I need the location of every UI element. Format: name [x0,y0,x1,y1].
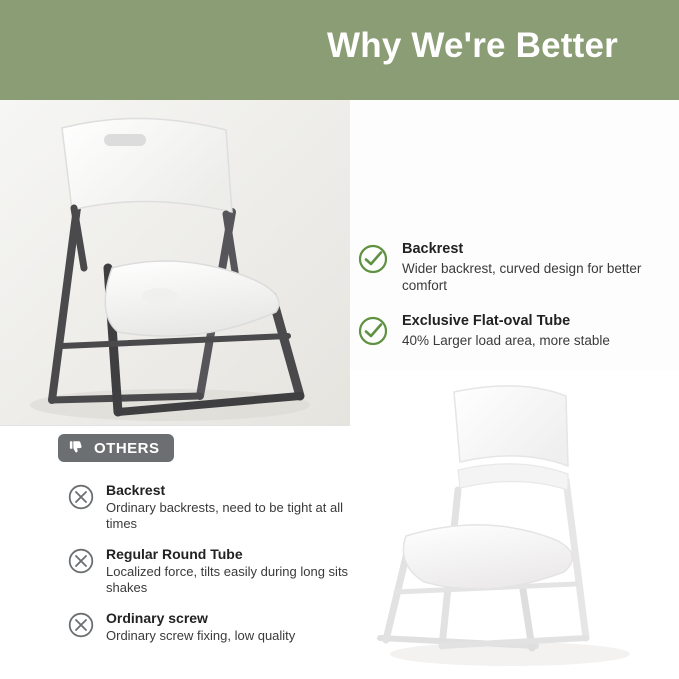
thumbs-down-icon [68,439,86,457]
cons-list: Backrest Ordinary backrests, need to be … [68,482,368,670]
con-title: Ordinary screw [106,610,368,627]
others-badge-label: OTHERS [94,440,160,457]
con-description: Ordinary backrests, need to be tight at … [106,500,368,532]
other-chair-illustration [350,370,679,679]
x-circle-icon [68,612,94,638]
our-chair-photo [0,100,350,425]
con-item: Ordinary screw Ordinary screw fixing, lo… [68,610,368,656]
other-chair-photo [350,370,679,679]
feature-description: Wider backrest, curved design for better… [402,260,668,294]
product-comparison-infographic: Why We're Better [0,0,679,679]
con-title: Backrest [106,482,368,499]
feature-title: Exclusive Flat-oval Tube [402,312,668,330]
feature-description: 40% Larger load area, more stable [402,332,668,349]
con-item: Regular Round Tube Localized force, tilt… [68,546,368,596]
our-chair-illustration [0,100,350,425]
check-circle-icon [358,244,388,274]
x-circle-icon [68,484,94,510]
page-title: Why We're Better [280,24,665,68]
con-title: Regular Round Tube [106,546,368,563]
x-circle-icon [68,548,94,574]
check-circle-icon [358,316,388,346]
feature-item: Exclusive Flat-oval Tube 40% Larger load… [358,312,668,364]
con-description: Ordinary screw fixing, low quality [106,628,368,644]
con-description: Localized force, tilts easily during lon… [106,564,368,596]
feature-item: Backrest Wider backrest, curved design f… [358,240,668,294]
feature-title: Backrest [402,240,668,258]
con-item: Backrest Ordinary backrests, need to be … [68,482,368,532]
others-badge: OTHERS [58,434,174,462]
